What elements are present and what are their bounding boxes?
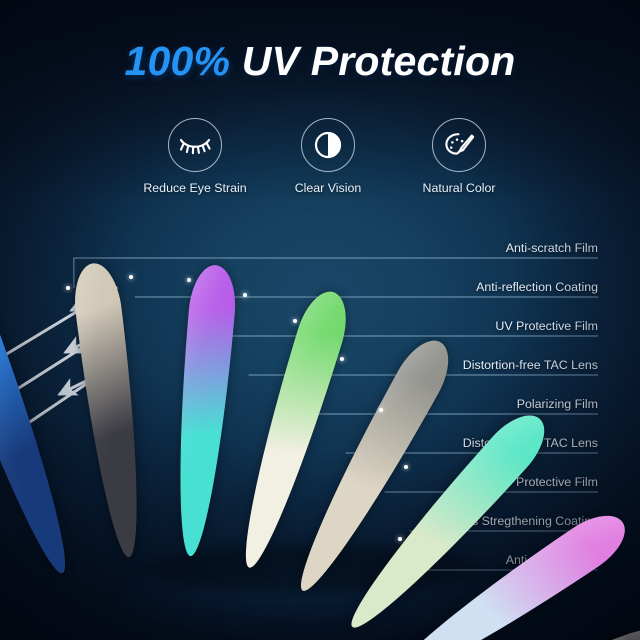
leader-anchor-dot: [404, 465, 408, 469]
feature-row: Reduce Eye Strain Clear Vision: [0, 118, 640, 208]
callout-text: UV Protective Film: [495, 319, 598, 333]
color-palette-icon: [432, 118, 486, 172]
leader-anchor-dot: [66, 286, 70, 290]
feature-natural-color[interactable]: Natural Color: [384, 118, 534, 195]
feature-label: Reduce Eye Strain: [120, 181, 270, 195]
callout-text: Anti-scratch Film: [506, 241, 598, 255]
page-title: 100% UV Protection: [0, 38, 640, 85]
title-rest: UV Protection: [230, 38, 515, 84]
title-highlight: 100%: [125, 38, 231, 84]
leader-anchor-dot: [379, 408, 383, 412]
feature-clear-vision[interactable]: Clear Vision: [253, 118, 403, 195]
callout-text: Distortion-free TAC Lens: [463, 358, 598, 372]
feature-label: Clear Vision: [253, 181, 403, 195]
leader-anchor-dot: [187, 278, 191, 282]
feature-reduce-eye-strain[interactable]: Reduce Eye Strain: [120, 118, 270, 195]
product-infographic: Anti-scratch FilmAnti-reflection Coating…: [0, 0, 640, 640]
leader-anchor-dot: [398, 537, 402, 541]
contrast-circle-icon: [301, 118, 355, 172]
feature-label: Natural Color: [384, 181, 534, 195]
callout-text: Polarizing Film: [517, 397, 598, 411]
callout-text: Anti-reflection Coating: [476, 280, 598, 294]
closed-eye-icon: [168, 118, 222, 172]
leader-anchor-dot: [293, 319, 297, 323]
leader-anchor-dot: [243, 293, 247, 297]
leader-anchor-dot: [340, 357, 344, 361]
leader-anchor-dot: [129, 275, 133, 279]
